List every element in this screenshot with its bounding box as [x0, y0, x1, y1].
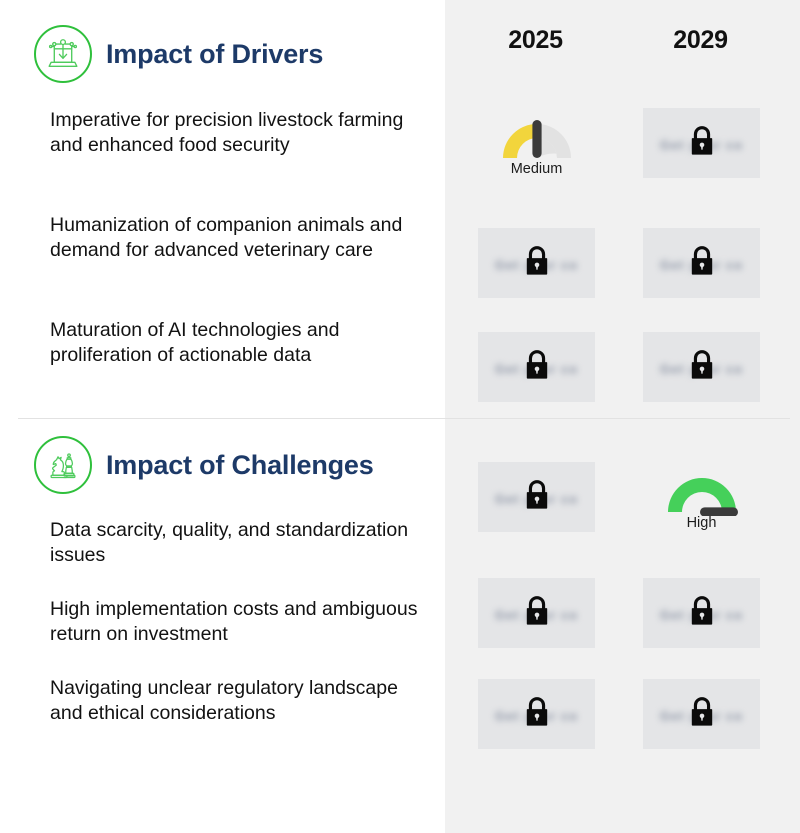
laptop-data-download-icon: [34, 25, 92, 83]
lock-icon: [687, 124, 717, 158]
gauge-level-label: High: [687, 515, 717, 531]
gauge-dial: [654, 462, 750, 516]
cell-drivers-2-2025[interactable]: Get your co: [478, 228, 595, 298]
cell-drivers-3-2029[interactable]: Get your co: [643, 332, 760, 402]
row-label-challenges-1: Data scarcity, quality, and standardizat…: [50, 518, 430, 568]
locked-cell[interactable]: Get your co: [478, 679, 595, 749]
gauge-dial: [489, 108, 585, 162]
lock-icon: [522, 695, 552, 729]
locked-cell[interactable]: Get your co: [643, 679, 760, 749]
lock-icon: [522, 478, 552, 512]
section-title-challenges: Impact of Challenges: [106, 450, 374, 481]
locked-cell[interactable]: Get your co: [643, 108, 760, 178]
cell-drivers-3-2025[interactable]: Get your co: [478, 332, 595, 402]
lock-icon: [522, 244, 552, 278]
locked-cell[interactable]: Get your co: [478, 228, 595, 298]
cell-challenges-2-2029[interactable]: Get your co: [643, 578, 760, 648]
row-label-challenges-2: High implementation costs and ambiguous …: [50, 597, 430, 647]
lock-icon: [687, 594, 717, 628]
section-header-drivers: Impact of Drivers: [34, 25, 323, 83]
lock-icon: [522, 594, 552, 628]
row-label-drivers-2: Humanization of companion animals and de…: [50, 213, 430, 263]
cell-drivers-2-2029[interactable]: Get your co: [643, 228, 760, 298]
locked-cell[interactable]: Get your co: [478, 332, 595, 402]
cell-challenges-3-2025[interactable]: Get your co: [478, 679, 595, 749]
gauge-medium: Medium: [478, 108, 595, 178]
section-header-challenges: Impact of Challenges: [34, 436, 374, 494]
gauge-high: High: [643, 462, 760, 532]
locked-cell[interactable]: Get your co: [478, 462, 595, 532]
cell-challenges-1-2029[interactable]: High: [643, 462, 760, 532]
cell-challenges-3-2029[interactable]: Get your co: [643, 679, 760, 749]
cell-drivers-1-2029[interactable]: Get your co: [643, 108, 760, 178]
gauge-needle: [532, 120, 541, 158]
gauge-level-label: Medium: [511, 161, 563, 177]
lock-icon: [687, 348, 717, 382]
locked-cell[interactable]: Get your co: [643, 228, 760, 298]
cell-challenges-2-2025[interactable]: Get your co: [478, 578, 595, 648]
chess-pieces-icon: [34, 436, 92, 494]
cell-drivers-1-2025[interactable]: Medium: [478, 108, 595, 178]
locked-cell[interactable]: Get your co: [478, 578, 595, 648]
column-header-2029: 2029: [643, 26, 758, 55]
column-header-2025: 2025: [478, 26, 593, 55]
lock-icon: [687, 695, 717, 729]
locked-cell[interactable]: Get your co: [643, 578, 760, 648]
cell-challenges-1-2025[interactable]: Get your co: [478, 462, 595, 532]
row-label-drivers-1: Imperative for precision livestock farmi…: [50, 108, 430, 158]
section-title-drivers: Impact of Drivers: [106, 39, 323, 70]
lock-icon: [522, 348, 552, 382]
row-label-drivers-3: Maturation of AI technologies and prolif…: [50, 318, 430, 368]
section-divider: [18, 418, 790, 419]
row-label-challenges-3: Navigating unclear regulatory landscape …: [50, 676, 430, 726]
locked-cell[interactable]: Get your co: [643, 332, 760, 402]
lock-icon: [687, 244, 717, 278]
